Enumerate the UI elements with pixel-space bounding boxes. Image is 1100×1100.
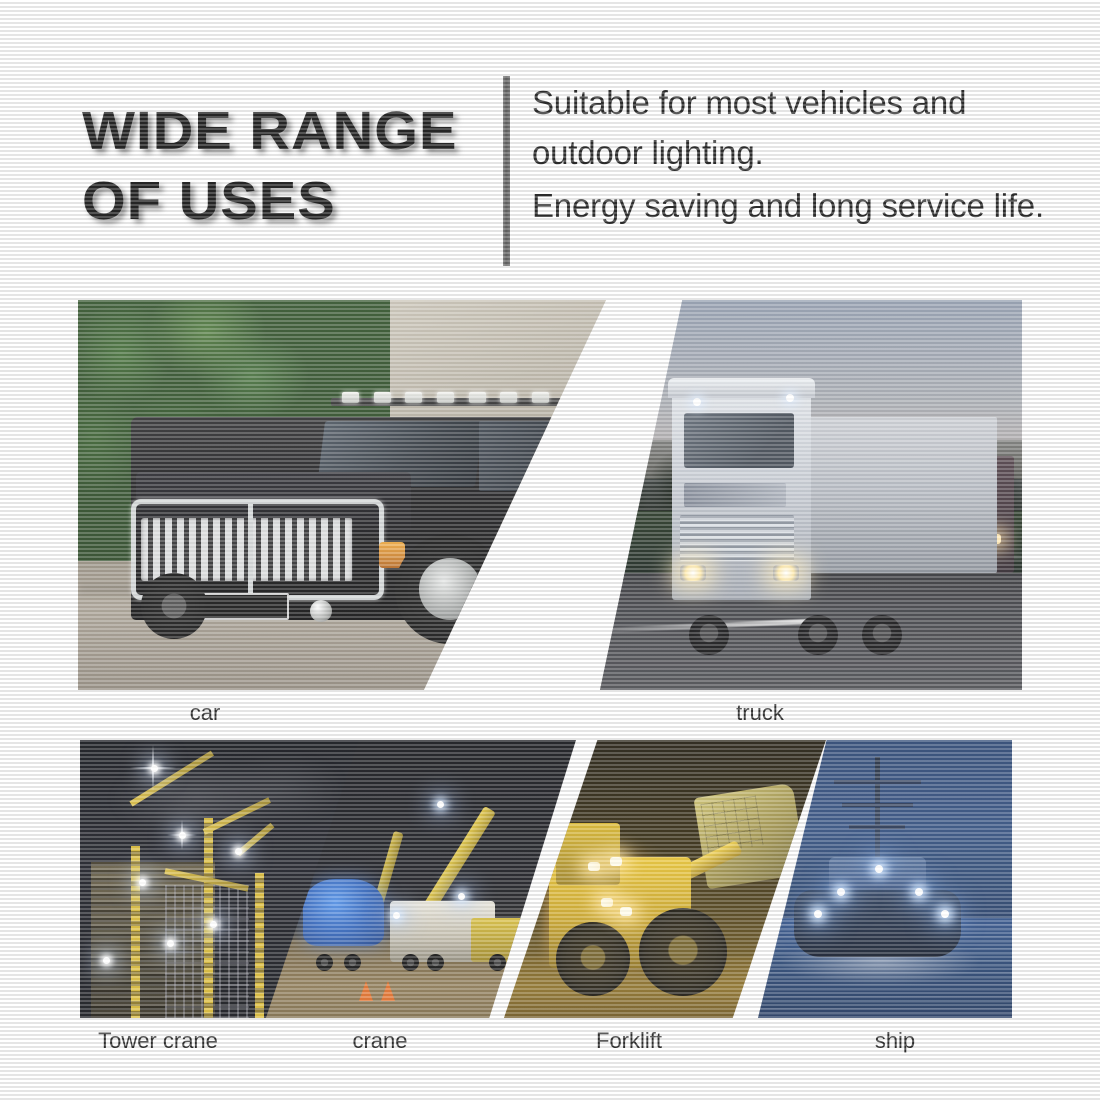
page-title: WIDE RANGE OF USES xyxy=(82,96,482,236)
caption-car: car xyxy=(160,700,250,726)
subheading-line-2: Energy saving and long service life. xyxy=(532,181,1052,231)
scene-car-hummer xyxy=(78,300,606,690)
scene-semi-truck-dusk xyxy=(600,300,1022,690)
caption-forklift: Forklift xyxy=(574,1028,684,1054)
photo-panel-truck[interactable] xyxy=(600,300,1022,690)
subheading-block: Suitable for most vehicles and outdoor l… xyxy=(532,78,1052,231)
photo-panel-car[interactable] xyxy=(78,300,606,690)
vertical-divider xyxy=(503,76,510,266)
hero-image-row xyxy=(78,300,1022,690)
caption-truck: truck xyxy=(712,700,808,726)
headline-line-2: OF USES xyxy=(82,166,498,236)
page-background: WIDE RANGE OF USES Suitable for most veh… xyxy=(0,0,1100,1100)
caption-tower-crane: Tower crane xyxy=(78,1028,238,1054)
caption-crane: crane xyxy=(330,1028,430,1054)
caption-ship: ship xyxy=(850,1028,940,1054)
header-section: WIDE RANGE OF USES Suitable for most veh… xyxy=(0,0,1100,300)
secondary-image-row xyxy=(80,740,1012,1018)
headline-line-1: WIDE RANGE xyxy=(82,96,498,166)
subheading-line-1: Suitable for most vehicles and outdoor l… xyxy=(532,78,1052,178)
